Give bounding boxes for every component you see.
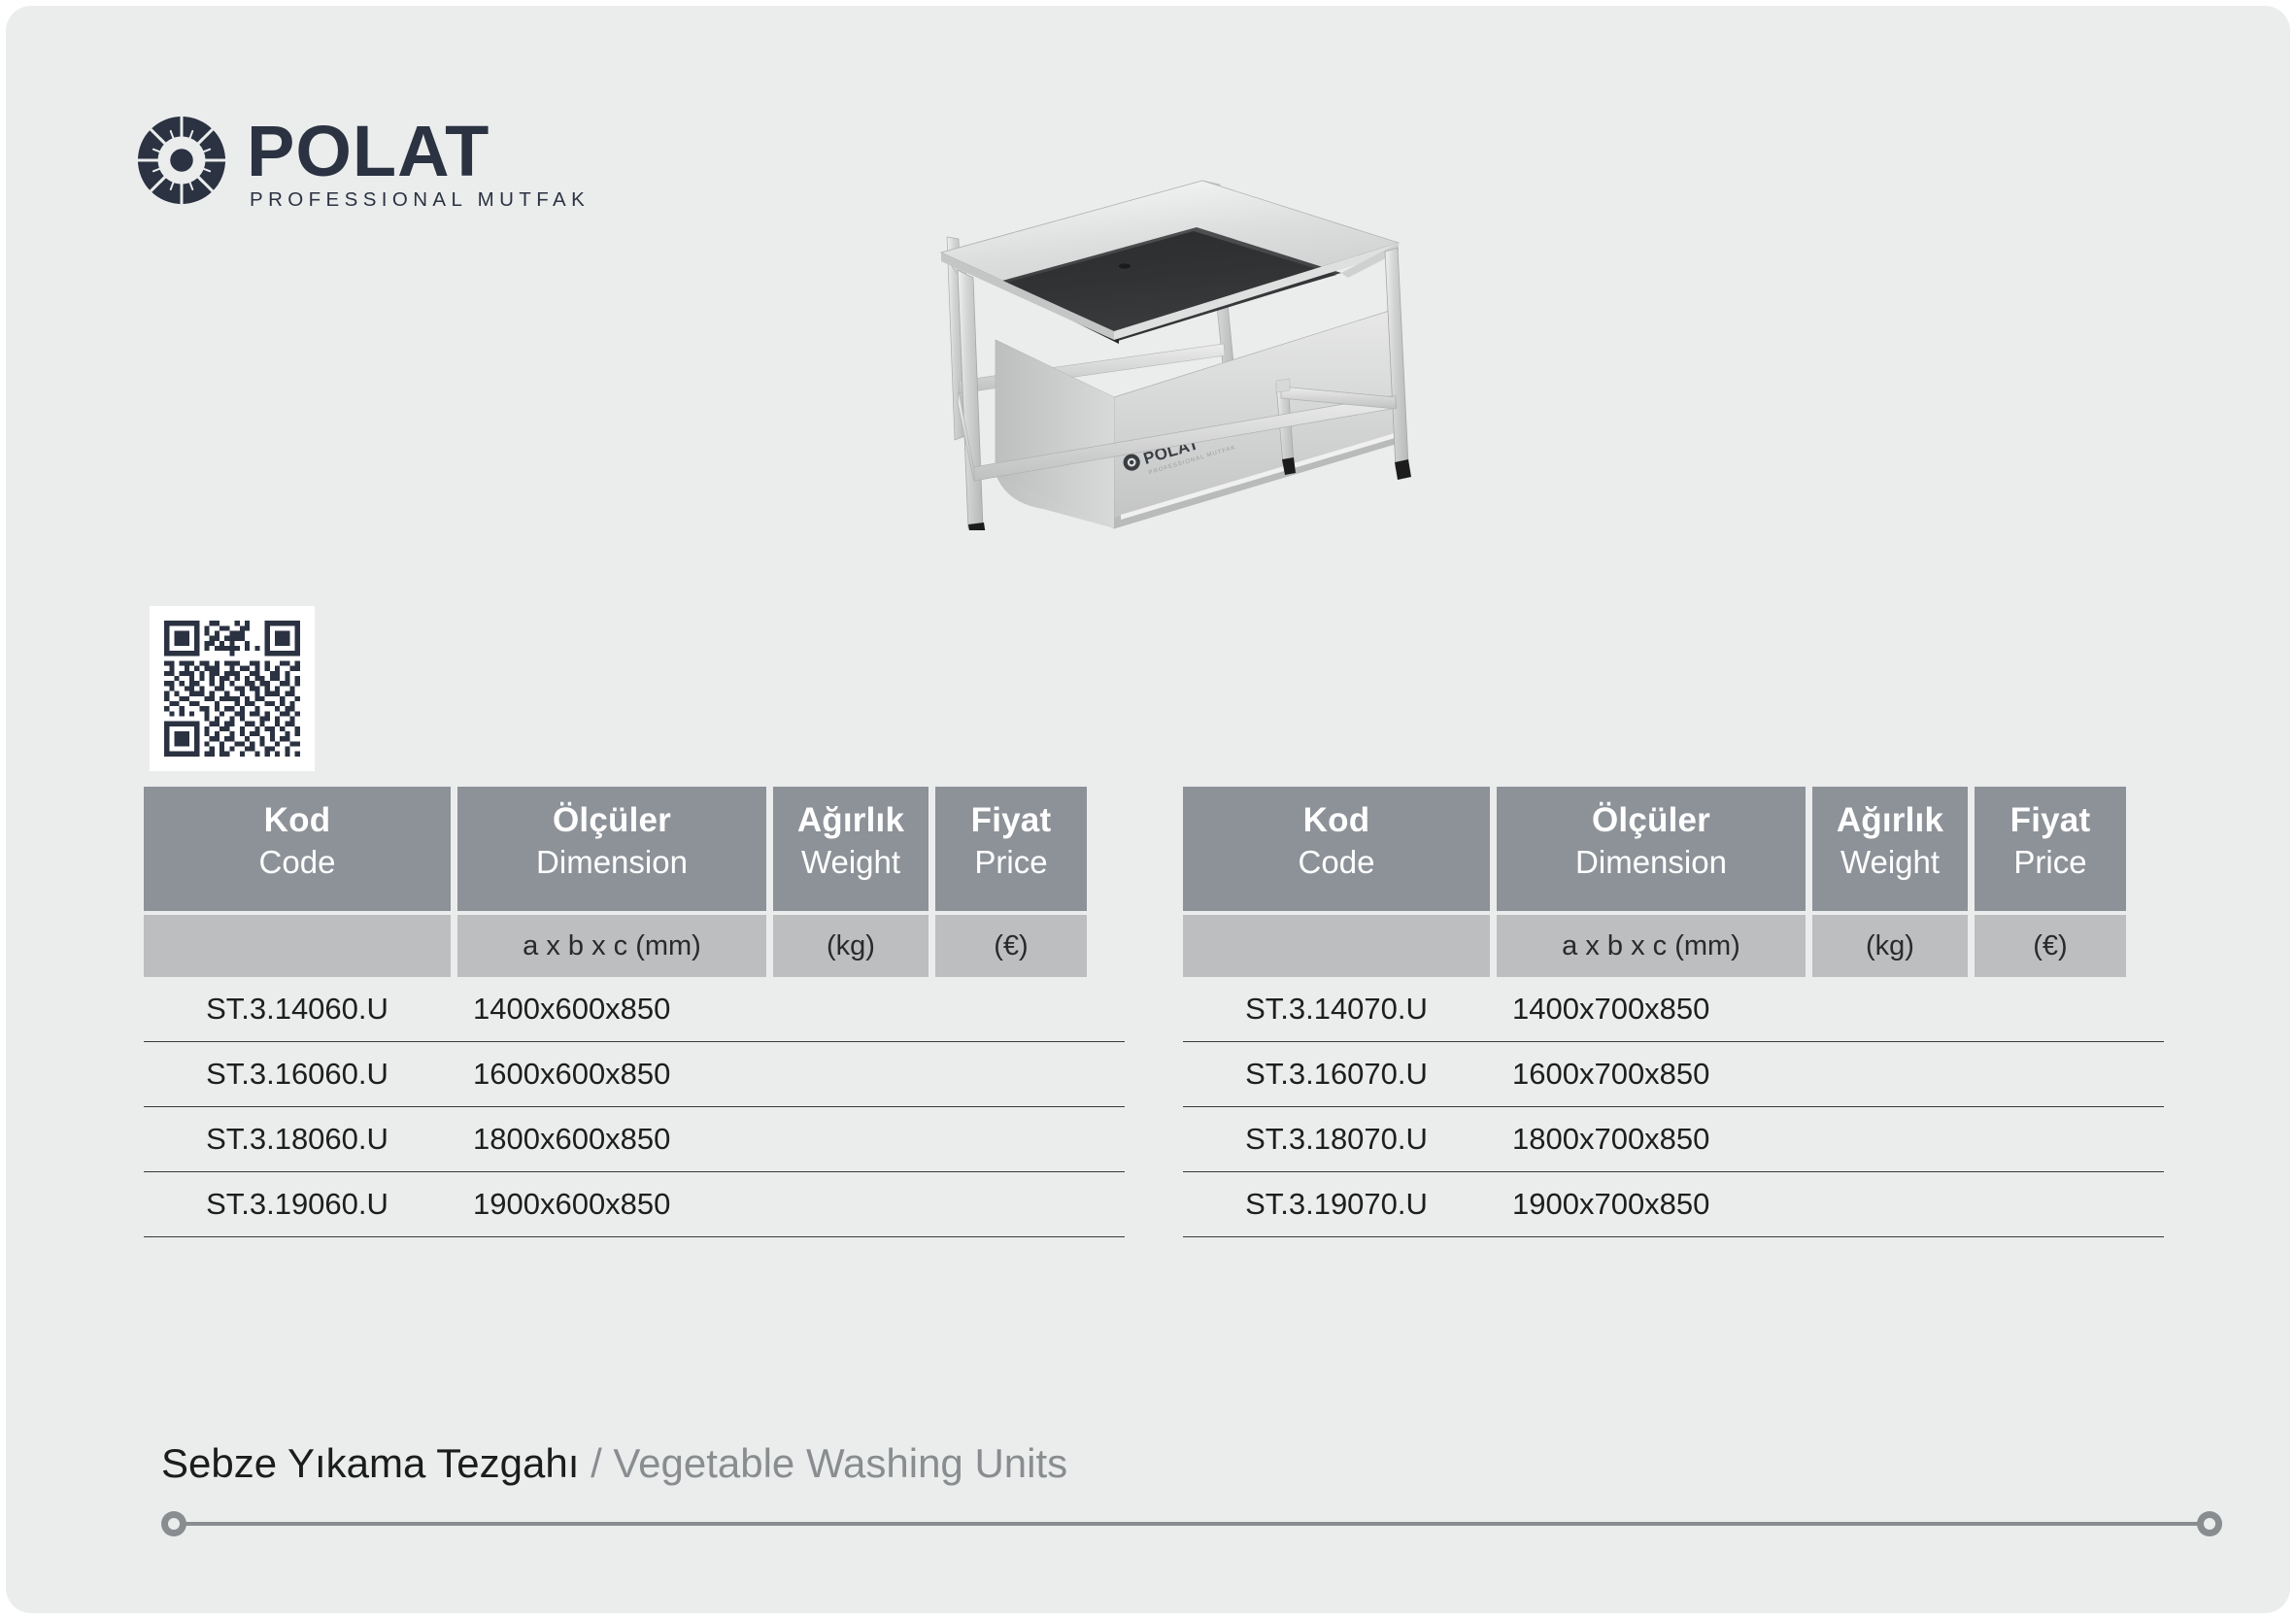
table-row[interactable]: ST.3.19070.U 1900x700x850 — [1183, 1172, 2164, 1237]
cell-code: ST.3.14070.U — [1183, 992, 1490, 1027]
footer-rule-line — [174, 1522, 2210, 1526]
cell-dimension: 1600x600x850 — [457, 1057, 766, 1092]
product-title-en: Vegetable Washing Units — [613, 1440, 1067, 1486]
qr-code[interactable] — [150, 606, 315, 771]
page-footer: Sebze Yıkama Tezgahı / Vegetable Washing… — [161, 1441, 2222, 1536]
footer-rule-dot-right — [2197, 1511, 2222, 1536]
header-price-unit: (€) — [1975, 915, 2126, 977]
spec-table-right: Kod Code Ölçüler Dimension a x b x c (mm… — [1183, 787, 2164, 1237]
cell-dimension: 1900x600x850 — [457, 1187, 766, 1222]
column-header-price: Fiyat Price (€) — [935, 787, 1087, 977]
cell-dimension: 1800x700x850 — [1497, 1122, 1806, 1157]
brand-logo: POLAT PROFESSIONAL MUTFAK — [136, 115, 590, 212]
header-price-tr: Fiyat — [939, 800, 1083, 840]
cell-code: ST.3.16070.U — [1183, 1057, 1490, 1092]
footer-rule — [161, 1511, 2222, 1536]
cell-dimension: 1800x600x850 — [457, 1122, 766, 1157]
cell-code: ST.3.18060.U — [144, 1122, 451, 1157]
column-header-weight: Ağırlık Weight (kg) — [773, 787, 929, 977]
header-code-en: Code — [148, 844, 447, 882]
header-weight-en: Weight — [777, 844, 925, 882]
header-weight-en: Weight — [1816, 844, 1964, 882]
cell-dimension: 1600x700x850 — [1497, 1057, 1806, 1092]
product-title-separator: / — [579, 1440, 613, 1486]
table-row[interactable]: ST.3.16060.U 1600x600x850 — [144, 1042, 1125, 1107]
header-dimension-tr: Ölçüler — [461, 800, 762, 840]
header-code-tr: Kod — [148, 800, 447, 840]
brand-tagline: PROFESSIONAL MUTFAK — [250, 188, 590, 212]
header-dimension-en: Dimension — [461, 844, 762, 882]
header-weight-unit: (kg) — [773, 915, 929, 977]
cell-code: ST.3.19070.U — [1183, 1187, 1490, 1222]
table-header-row: Kod Code Ölçüler Dimension a x b x c (mm… — [144, 787, 1125, 977]
header-price-en: Price — [1978, 844, 2122, 882]
cell-code: ST.3.19060.U — [144, 1187, 451, 1222]
catalog-page: POLAT PROFESSIONAL MUTFAK — [6, 6, 2290, 1613]
table-row[interactable]: ST.3.18060.U 1800x600x850 — [144, 1107, 1125, 1172]
cell-dimension: 1400x600x850 — [457, 992, 766, 1027]
footer-rule-dot-left — [161, 1511, 186, 1536]
spec-table-left: Kod Code Ölçüler Dimension a x b x c (mm… — [144, 787, 1125, 1237]
header-dimension-unit: a x b x c (mm) — [457, 915, 766, 977]
polat-flower-emblem-icon — [136, 115, 227, 206]
header-dimension-tr: Ölçüler — [1501, 800, 1802, 840]
header-weight-tr: Ağırlık — [777, 800, 925, 840]
table-header-row: Kod Code Ölçüler Dimension a x b x c (mm… — [1183, 787, 2164, 977]
header-price-tr: Fiyat — [1978, 800, 2122, 840]
column-header-price: Fiyat Price (€) — [1975, 787, 2126, 977]
cell-code: ST.3.16060.U — [144, 1057, 451, 1092]
cell-code: ST.3.14060.U — [144, 992, 451, 1027]
header-code-tr: Kod — [1187, 800, 1486, 840]
product-title: Sebze Yıkama Tezgahı / Vegetable Washing… — [161, 1441, 2222, 1486]
header-price-unit: (€) — [935, 915, 1087, 977]
header-code-unit — [1183, 915, 1490, 977]
column-header-dimension: Ölçüler Dimension a x b x c (mm) — [1497, 787, 1806, 977]
table-row[interactable]: ST.3.14070.U 1400x700x850 — [1183, 977, 2164, 1042]
header-dimension-en: Dimension — [1501, 844, 1802, 882]
column-header-code: Kod Code — [1183, 787, 1490, 977]
table-row[interactable]: ST.3.19060.U 1900x600x850 — [144, 1172, 1125, 1237]
column-header-dimension: Ölçüler Dimension a x b x c (mm) — [457, 787, 766, 977]
column-header-weight: Ağırlık Weight (kg) — [1812, 787, 1968, 977]
header-code-unit — [144, 915, 451, 977]
brand-name: POLAT — [247, 118, 590, 185]
cell-dimension: 1400x700x850 — [1497, 992, 1806, 1027]
column-header-code: Kod Code — [144, 787, 451, 977]
product-title-tr: Sebze Yıkama Tezgahı — [161, 1440, 579, 1486]
table-body: ST.3.14070.U 1400x700x850 ST.3.16070.U 1… — [1183, 977, 2164, 1237]
table-row[interactable]: ST.3.14060.U 1400x600x850 — [144, 977, 1125, 1042]
header-code-en: Code — [1187, 844, 1486, 882]
product-image: POLAT PROFESSIONAL MUTFAK — [812, 122, 1511, 530]
header-weight-unit: (kg) — [1812, 915, 1968, 977]
header-price-en: Price — [939, 844, 1083, 882]
header-weight-tr: Ağırlık — [1816, 800, 1964, 840]
table-row[interactable]: ST.3.18070.U 1800x700x850 — [1183, 1107, 2164, 1172]
cell-dimension: 1900x700x850 — [1497, 1187, 1806, 1222]
table-body: ST.3.14060.U 1400x600x850 ST.3.16060.U 1… — [144, 977, 1125, 1237]
cell-code: ST.3.18070.U — [1183, 1122, 1490, 1157]
table-row[interactable]: ST.3.16070.U 1600x700x850 — [1183, 1042, 2164, 1107]
header-dimension-unit: a x b x c (mm) — [1497, 915, 1806, 977]
